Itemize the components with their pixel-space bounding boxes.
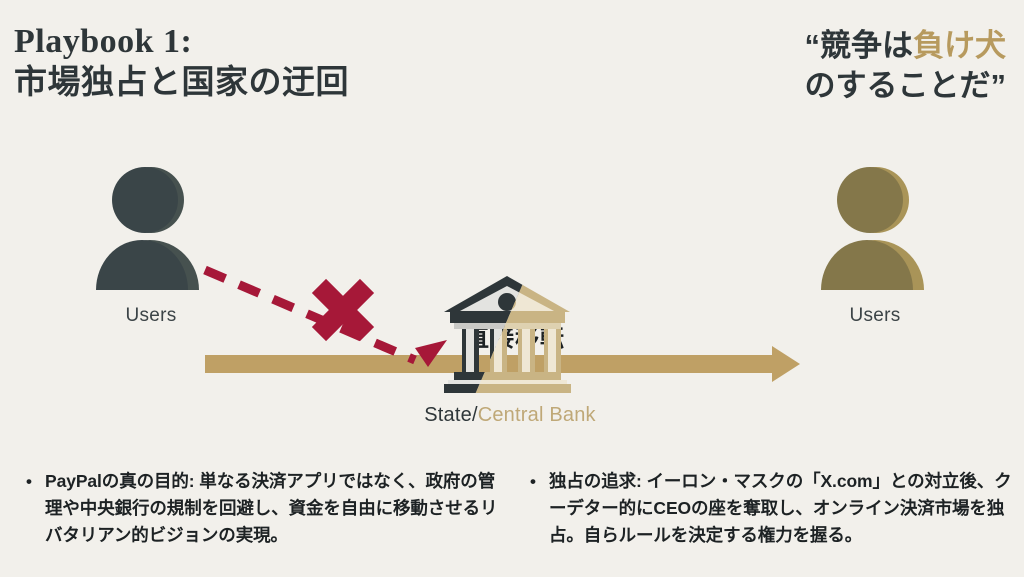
bullet-marker-icon: • [530,468,536,495]
bullet-text-right: 独占の追求: イーロン・マスクの「X.com」との対立後、クーデター的にCEOの… [549,468,1020,549]
bullet-list: • PayPalの真の目的: 単なる決済アプリではなく、政府の管理や中央銀行の規… [0,468,1024,577]
slide-canvas: Playbook 1: 市場独占と国家の迂回 “競争は負け犬 のすることだ” U… [0,0,1024,577]
bank-label-state: State/ [424,404,477,426]
bullet-text-left: PayPalの真の目的: 単なる決済アプリではなく、政府の管理や中央銀行の規制を… [45,468,506,549]
headline-quote: “競争は負け犬 のすることだ” [686,26,1006,106]
title-line-japanese: 市場独占と国家の迂回 [14,62,534,102]
bank-label-central-bank: Central Bank [478,404,596,426]
quote-highlight: 負け犬 [913,28,1006,63]
bank-label: State/Central Bank [390,404,630,427]
quote-line-1-prefix: “競争は [805,28,914,63]
list-item: • 独占の追求: イーロン・マスクの「X.com」との対立後、クーデター的にCE… [530,468,1020,549]
list-item: • PayPalの真の目的: 単なる決済アプリではなく、政府の管理や中央銀行の規… [26,468,506,549]
quote-line-2: のすることだ” [686,66,1006,106]
bank-building-icon [440,272,575,397]
quote-line-1: “競争は負け犬 [686,26,1006,66]
title-line-english: Playbook 1: [14,22,534,62]
bullet-marker-icon: • [26,468,32,495]
page-title: Playbook 1: 市場独占と国家の迂回 [14,22,534,102]
flow-diagram: Users Users 直接移転 [0,150,1024,450]
